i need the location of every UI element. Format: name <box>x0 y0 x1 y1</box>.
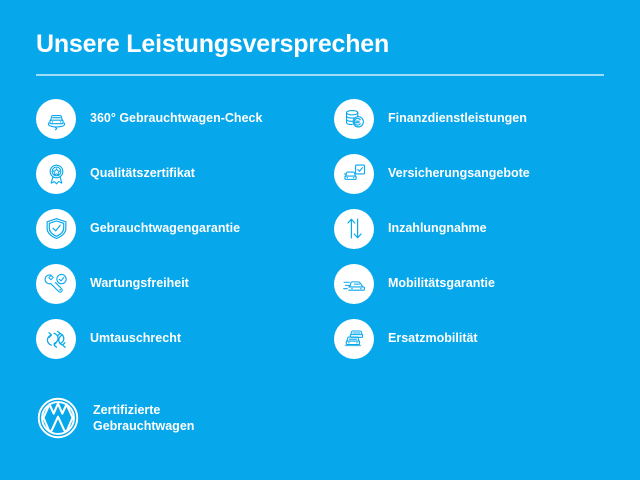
two-cars-icon <box>334 319 374 359</box>
brand-footer: Zertifizierte Gebrauchtwagen <box>36 396 194 440</box>
promise-item-finanzdienstleistungen[interactable]: Finanzdienstleistungen <box>334 99 604 139</box>
promise-label: Ersatzmobilität <box>388 331 478 346</box>
medal-star-icon <box>36 154 76 194</box>
promise-item-ersatzmobilitaet[interactable]: Ersatzmobilität <box>334 319 604 359</box>
brand-text: Zertifizierte Gebrauchtwagen <box>93 402 194 435</box>
promise-label: Wartungsfreiheit <box>90 276 189 291</box>
header: Unsere Leistungsversprechen <box>36 0 604 76</box>
promise-label: 360° Gebrauchtwagen-Check <box>90 111 262 126</box>
promise-label: Umtauschrecht <box>90 331 181 346</box>
promise-item-qualitaetszertifikat[interactable]: Qualitätszertifikat <box>36 154 306 194</box>
promise-item-umtauschrecht[interactable]: Umtauschrecht <box>36 319 306 359</box>
car-360-check-icon <box>36 99 76 139</box>
exchange-arrows-icon <box>36 319 76 359</box>
brand-line-2: Gebrauchtwagen <box>93 418 194 435</box>
promise-label: Versicherungsangebote <box>388 166 530 181</box>
promise-item-gebrauchtwagengarantie[interactable]: Gebrauchtwagengarantie <box>36 209 306 249</box>
promise-item-mobilitaetsgarantie[interactable]: Mobilitätsgarantie <box>334 264 604 304</box>
page-title: Unsere Leistungsversprechen <box>36 30 604 59</box>
car-document-check-icon <box>334 154 374 194</box>
volkswagen-logo <box>36 396 80 440</box>
promise-item-inzahlungnahme[interactable]: Inzahlungnahme <box>334 209 604 249</box>
shield-check-icon <box>36 209 76 249</box>
wrench-check-icon <box>36 264 76 304</box>
promise-label: Gebrauchtwagengarantie <box>90 221 240 236</box>
promise-label: Inzahlungnahme <box>388 221 487 236</box>
promise-label: Finanzdienstleistungen <box>388 111 527 126</box>
brand-line-1: Zertifizierte <box>93 402 194 419</box>
arrows-up-down-icon <box>334 209 374 249</box>
promise-item-versicherungsangebote[interactable]: Versicherungsangebote <box>334 154 604 194</box>
leistungsversprechen-panel: Unsere Leistungsversprechen 360° Gebrauc… <box>0 0 640 480</box>
title-divider <box>36 74 604 76</box>
promise-grid: 360° Gebrauchtwagen-Check Finanzdienstle… <box>36 99 604 359</box>
promise-label: Qualitätszertifikat <box>90 166 195 181</box>
promise-label: Mobilitätsgarantie <box>388 276 495 291</box>
car-speed-icon <box>334 264 374 304</box>
coins-euro-icon <box>334 99 374 139</box>
promise-item-wartungsfreiheit[interactable]: Wartungsfreiheit <box>36 264 306 304</box>
promise-item-360-check[interactable]: 360° Gebrauchtwagen-Check <box>36 99 306 139</box>
